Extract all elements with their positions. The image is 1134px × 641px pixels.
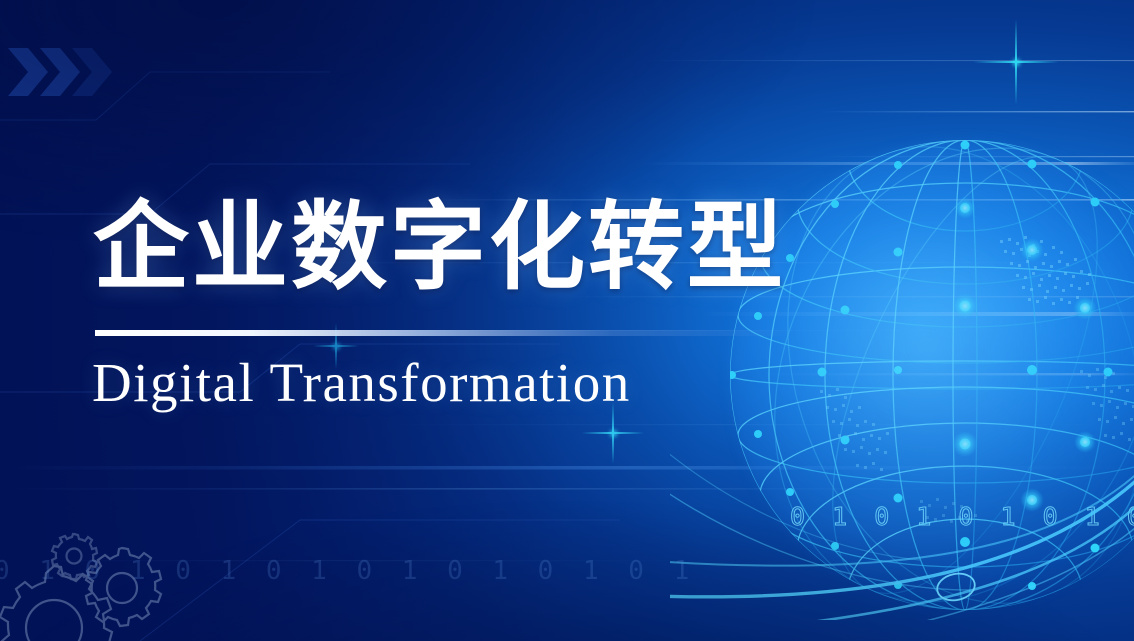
slide-canvas: 0 1 0 1 0 1 0 1 0 1 0 1 0 1 0 1 0 1 [0,0,1134,641]
binary-strip-bottom-left: 0 1 0 1 0 1 0 1 0 1 0 1 0 1 0 1 [0,556,696,586]
page-title-zh: 企业数字化转型 [93,196,786,300]
page-subtitle-en: Digital Transformation [92,352,631,414]
title-divider [95,330,795,336]
